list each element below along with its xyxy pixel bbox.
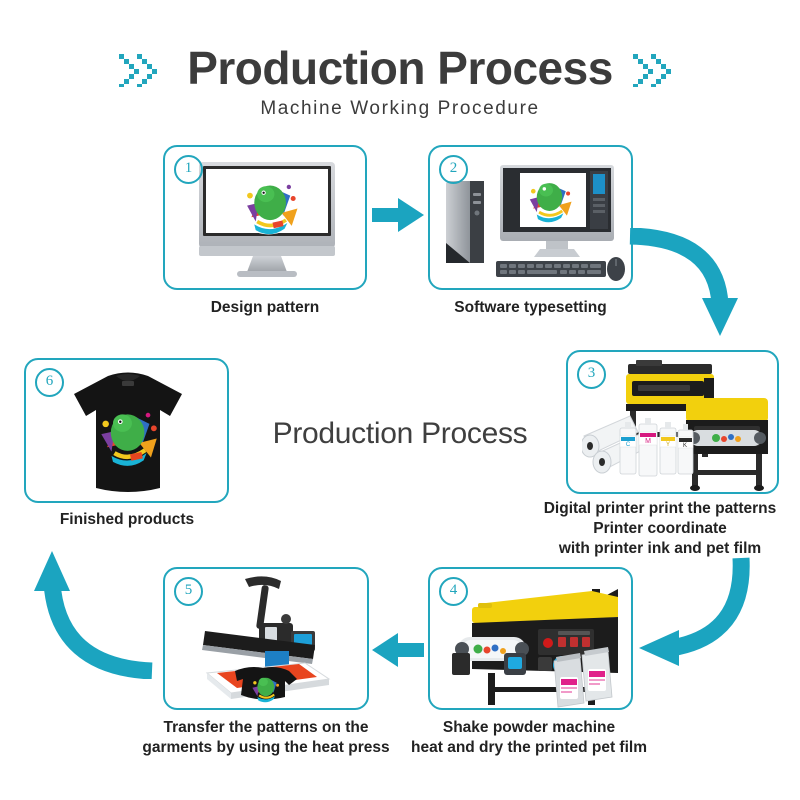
printed-black-tshirt-illustration (64, 368, 192, 496)
double-chevron-right-pixel-icon-left (117, 48, 169, 88)
imac-monitor-with-design-illustration (191, 160, 343, 282)
step-number-badge-1: 1 (174, 155, 203, 184)
double-chevron-right-pixel-icon-right (631, 48, 683, 88)
step-number-badge-4: 4 (439, 577, 468, 606)
shake-powder-machine-illustration (442, 573, 630, 709)
title-row: Production Process (0, 44, 800, 92)
step-caption-6: Finished products (20, 510, 234, 530)
svg-text:Y: Y (666, 442, 670, 448)
step-number-badge-3: 3 (577, 360, 606, 389)
arrow-step4-to-step5 (368, 631, 424, 669)
step-number-badge-6: 6 (35, 368, 64, 397)
step-caption-1: Design pattern (143, 298, 387, 318)
dtf-digital-printer-with-ink-and-film-illustration: C M Y K (582, 358, 778, 492)
step-caption-2: Software typesetting (408, 298, 653, 318)
step-card-1[interactable]: 1 (163, 145, 367, 290)
step-card-3[interactable]: 3 (566, 350, 779, 494)
arrow-step2-to-step3 (624, 228, 744, 346)
page-title: Production Process (187, 44, 613, 92)
svg-text:K: K (683, 443, 687, 449)
step-card-6[interactable]: 6 (24, 358, 229, 503)
svg-text:C: C (626, 442, 631, 448)
arrow-step1-to-step2 (372, 196, 428, 234)
arrow-step5-to-step6 (32, 543, 158, 679)
step-card-2[interactable]: 2 (428, 145, 633, 290)
step-caption-4: Shake powder machine heat and dry the pr… (404, 718, 654, 758)
ink-bottle-group: C M Y K (620, 418, 693, 476)
page-subtitle: Machine Working Procedure (0, 98, 800, 120)
step-caption-5: Transfer the patterns on the garments by… (120, 718, 412, 758)
heat-press-machine-illustration (187, 575, 349, 707)
step-number-badge-5: 5 (174, 577, 203, 606)
arrow-step3-to-step4 (625, 552, 751, 672)
center-label: Production Process (248, 417, 552, 451)
step-card-4[interactable]: 4 (428, 567, 633, 710)
step-number-badge-2: 2 (439, 155, 468, 184)
page-header: Production Process Machine Working Proce… (0, 44, 800, 120)
step-card-5[interactable]: 5 (163, 567, 369, 710)
desktop-pc-monitor-keyboard-mouse-illustration (440, 159, 626, 283)
svg-text:M: M (645, 438, 651, 445)
step-caption-3: Digital printer print the patterns Print… (520, 499, 800, 558)
